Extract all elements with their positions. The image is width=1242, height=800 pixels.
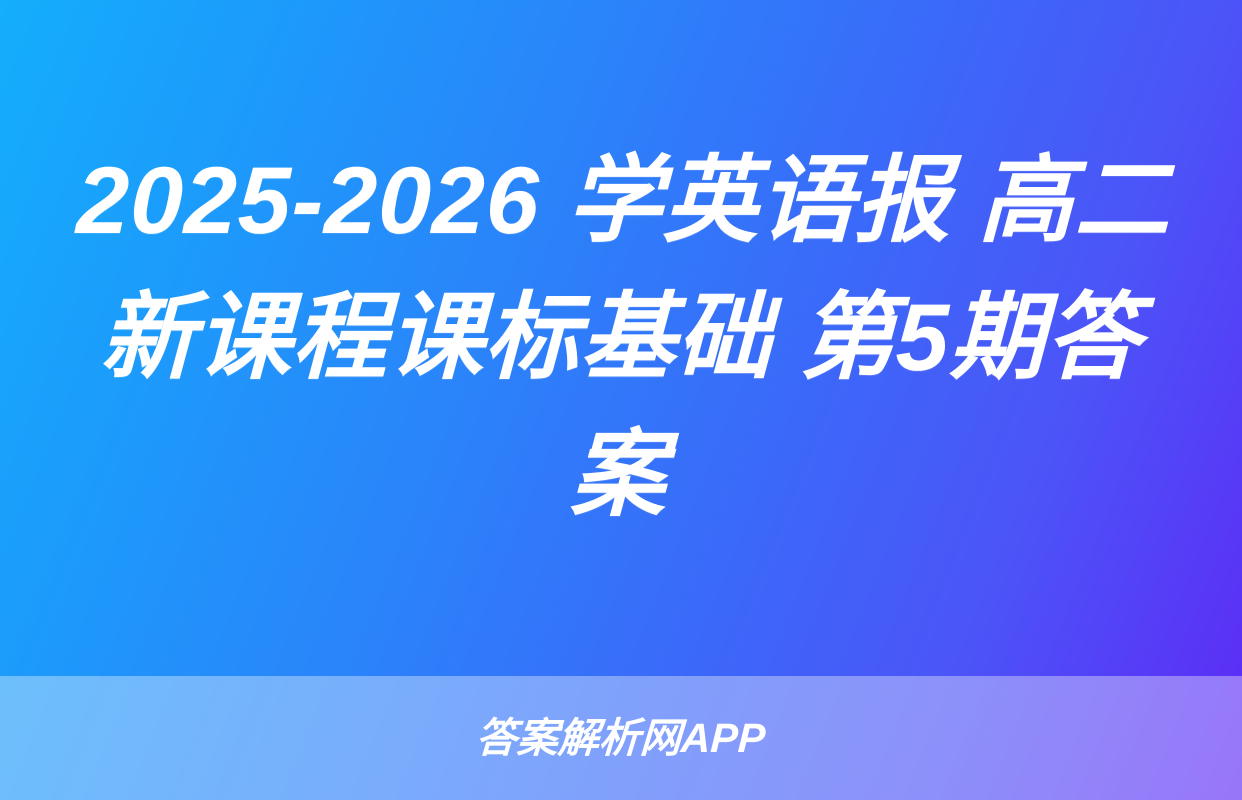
- poster-canvas: 2025-2026 学英语报 高二 新课程课标基础 第5期答案 答案解析网APP: [0, 0, 1242, 800]
- poster-title: 2025-2026 学英语报 高二 新课程课标基础 第5期答案: [56, 133, 1185, 544]
- footer-brand-band: 答案解析网APP: [0, 676, 1242, 800]
- poster-title-area: 2025-2026 学英语报 高二 新课程课标基础 第5期答案: [0, 0, 1242, 676]
- footer-brand-label: 答案解析网APP: [475, 716, 767, 760]
